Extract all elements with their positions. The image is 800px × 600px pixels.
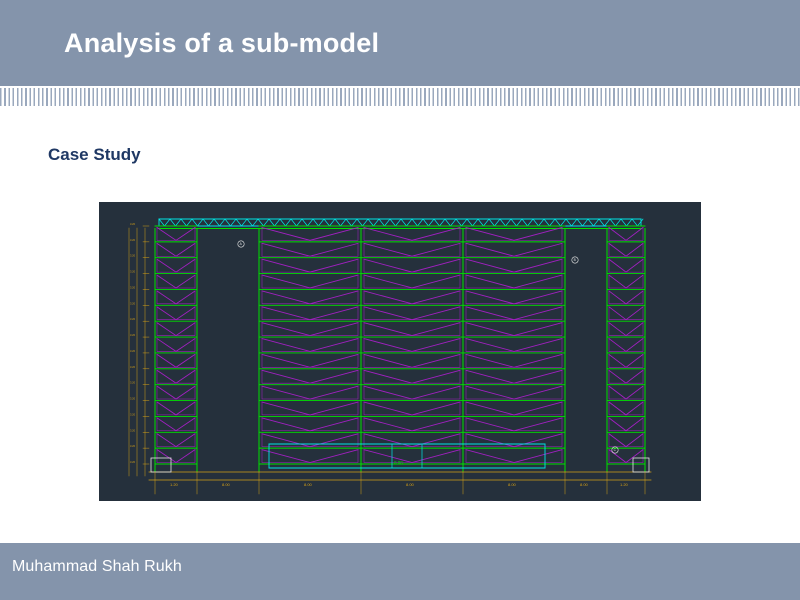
svg-text:3.20: 3.20 [130,412,136,416]
footer-author: Muhammad Shah Rukh [12,558,182,576]
svg-text:3.20: 3.20 [130,285,136,289]
svg-text:3.20: 3.20 [130,397,136,401]
svg-text:3.20: 3.20 [130,254,136,258]
svg-text:B: B [574,258,576,262]
comb-teeth [0,88,800,106]
svg-text:3.20: 3.20 [130,460,136,464]
header-band: Analysis of a sub-model [0,0,800,86]
slide: Analysis of a sub-model Case Study 3.203… [0,0,800,600]
svg-text:3.20: 3.20 [130,381,136,385]
svg-text:0.00: 0.00 [394,460,403,465]
svg-text:8.00: 8.00 [406,482,415,487]
svg-text:1.20: 1.20 [170,482,179,487]
svg-text:1.20: 1.20 [620,482,629,487]
svg-text:8.00: 8.00 [580,482,589,487]
page-title: Analysis of a sub-model [64,28,379,59]
cad-figure: 3.203.203.203.203.203.203.203.203.203.20… [99,202,701,501]
comb-divider [0,86,800,108]
structural-frame-elevation-svg: 3.203.203.203.203.203.203.203.203.203.20… [99,202,701,501]
svg-text:3.20: 3.20 [130,222,136,226]
section-subtitle: Case Study [48,145,141,165]
svg-text:3.20: 3.20 [130,333,136,337]
svg-text:3.20: 3.20 [130,238,136,242]
svg-text:3.20: 3.20 [130,349,136,353]
svg-text:3.20: 3.20 [130,317,136,321]
svg-text:8.00: 8.00 [508,482,517,487]
svg-text:8.00: 8.00 [304,482,313,487]
svg-text:8.00: 8.00 [222,482,231,487]
svg-text:3.20: 3.20 [130,365,136,369]
svg-text:3.20: 3.20 [130,270,136,274]
svg-text:3.20: 3.20 [130,428,136,432]
svg-text:3.20: 3.20 [130,444,136,448]
svg-text:3.20: 3.20 [130,301,136,305]
